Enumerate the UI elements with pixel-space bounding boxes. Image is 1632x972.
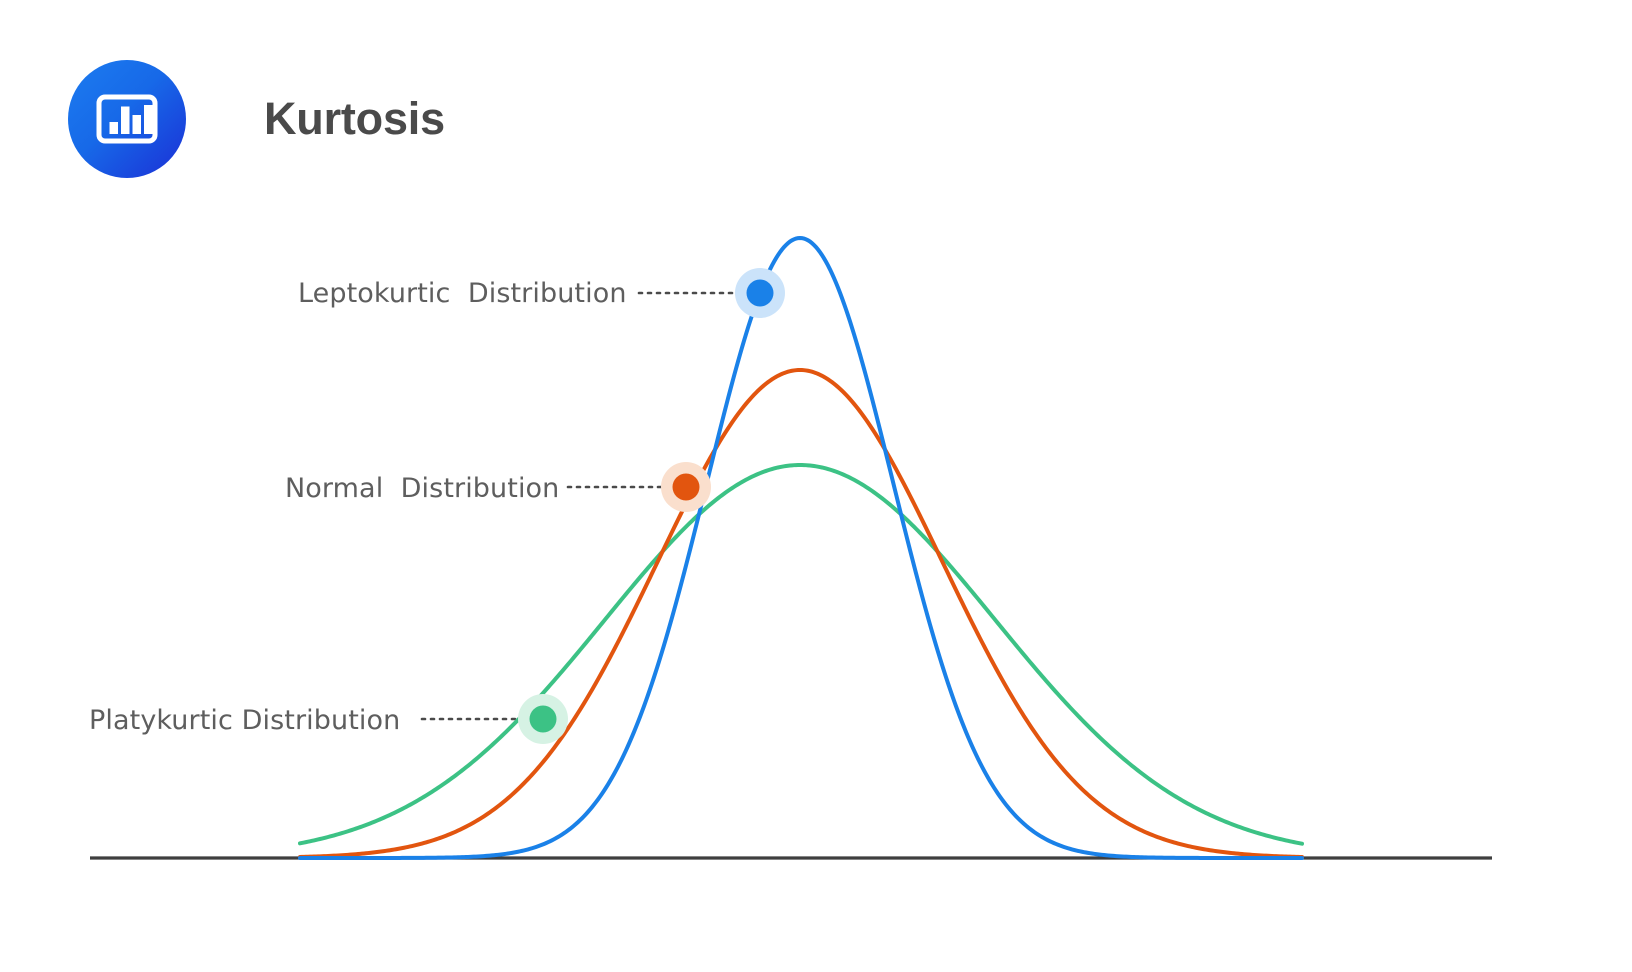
annotation-label-leptokurtic: Leptokurtic Distribution [298,278,627,309]
curve-normal [300,370,1302,857]
marker-dot-leptokurtic [747,280,774,307]
curve-leptokurtic [300,238,1302,858]
distribution-curves-svg [0,0,1632,972]
marker-dot-normal [673,474,700,501]
kurtosis-chart: Leptokurtic Distribution Normal Distribu… [0,0,1632,972]
annotation-label-platykurtic: Platykurtic Distribution [89,705,400,736]
marker-normal[interactable] [661,462,711,512]
marker-dot-platykurtic [530,706,557,733]
curve-platykurtic [300,465,1302,844]
annotation-label-normal: Normal Distribution [285,473,559,504]
curves-group [300,238,1302,858]
marker-platykurtic[interactable] [518,694,568,744]
marker-leptokurtic[interactable] [735,268,785,318]
